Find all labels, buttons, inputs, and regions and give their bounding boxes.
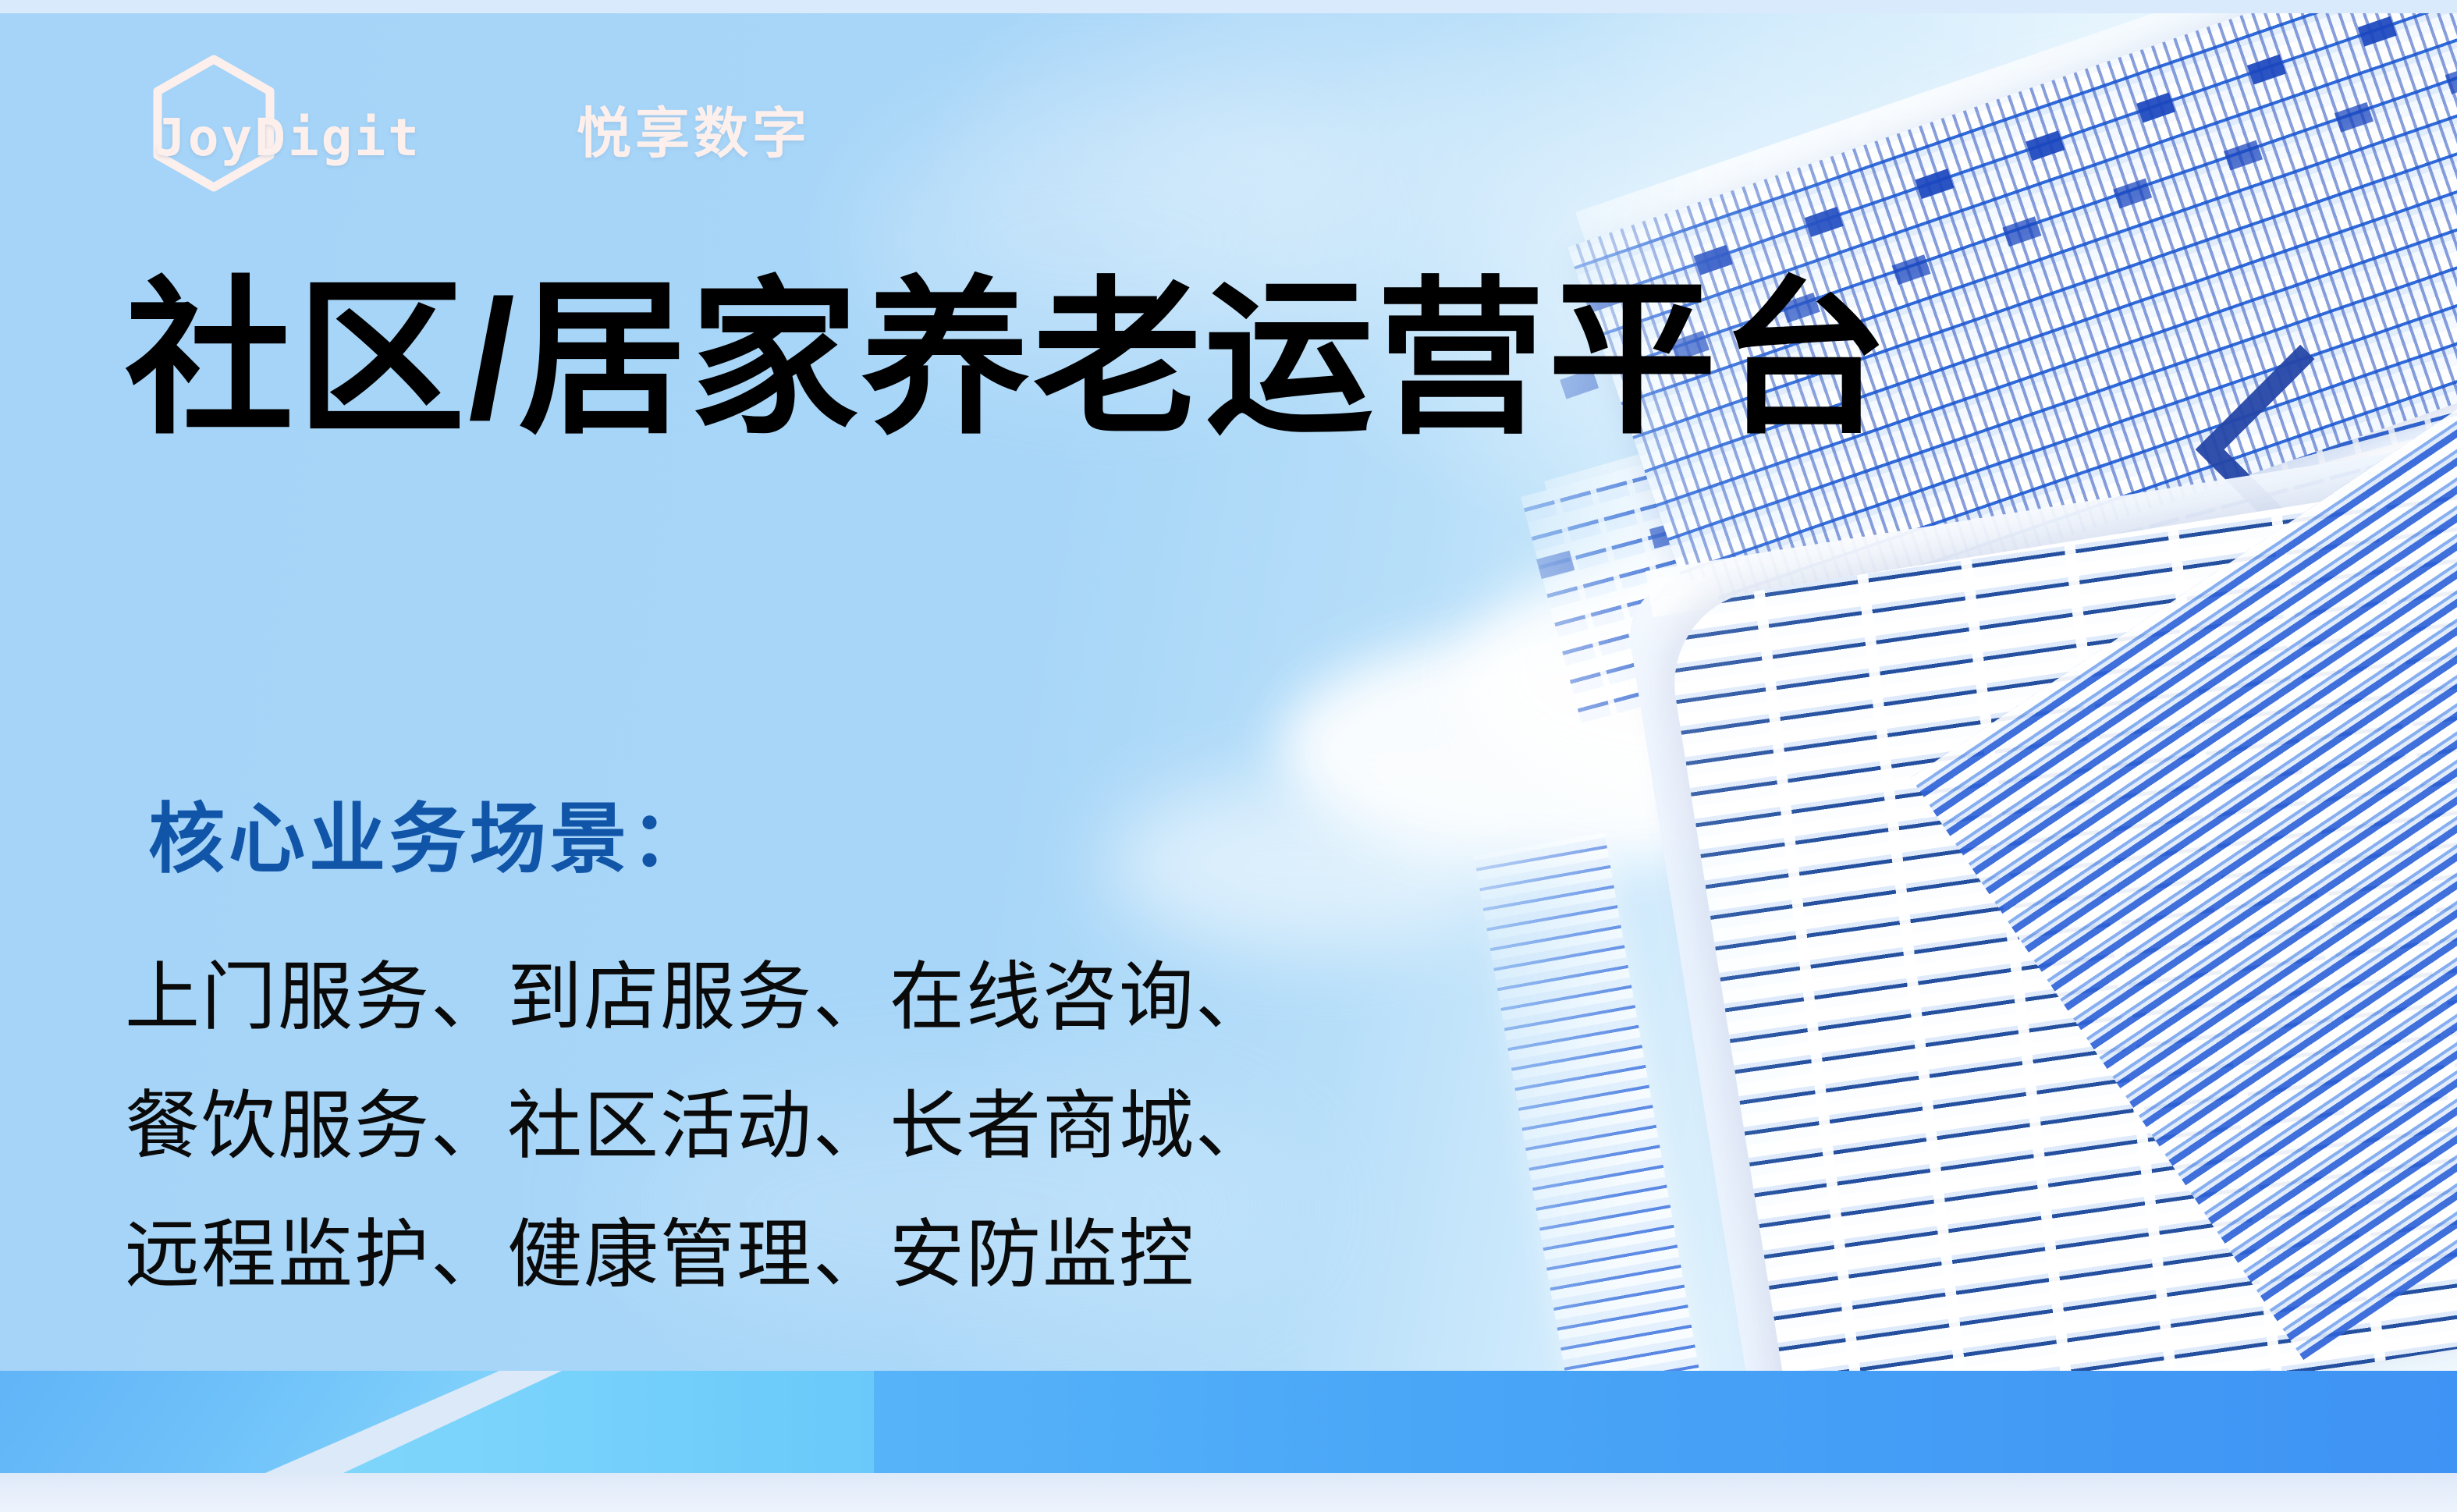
banner-base-strip [0, 1473, 2457, 1512]
top-pale-strip [0, 0, 2457, 13]
scene-line: 上门服务、到店服务、在线咨询、 [125, 933, 1272, 1062]
brand-name-cn: 悦享数字 [577, 90, 811, 169]
bottom-angled-banner [0, 1371, 2457, 1512]
skyscraper-photo [1427, 13, 2457, 1371]
slide-root: JoyDigit 悦享数字 社区/居家养老运营平台 核心业务场景： 上门服务、到… [0, 0, 2457, 1512]
business-scenes-list: 上门服务、到店服务、在线咨询、 餐饮服务、社区活动、长者商城、 远程监护、健康管… [125, 933, 1272, 1319]
scene-line: 远程监护、健康管理、安防监控 [125, 1191, 1272, 1319]
page-title: 社区/居家养老运营平台 [125, 265, 1891, 454]
scene-line: 餐饮服务、社区活动、长者商城、 [125, 1062, 1272, 1191]
building-thin-sliver [1474, 832, 1707, 1371]
hexagon-logo-icon: JoyDigit [140, 50, 287, 197]
brand-logo: JoyDigit 悦享数字 [140, 61, 811, 197]
section-subtitle: 核心业务场景： [148, 777, 711, 888]
brand-wordmark: JoyDigit [154, 108, 421, 168]
